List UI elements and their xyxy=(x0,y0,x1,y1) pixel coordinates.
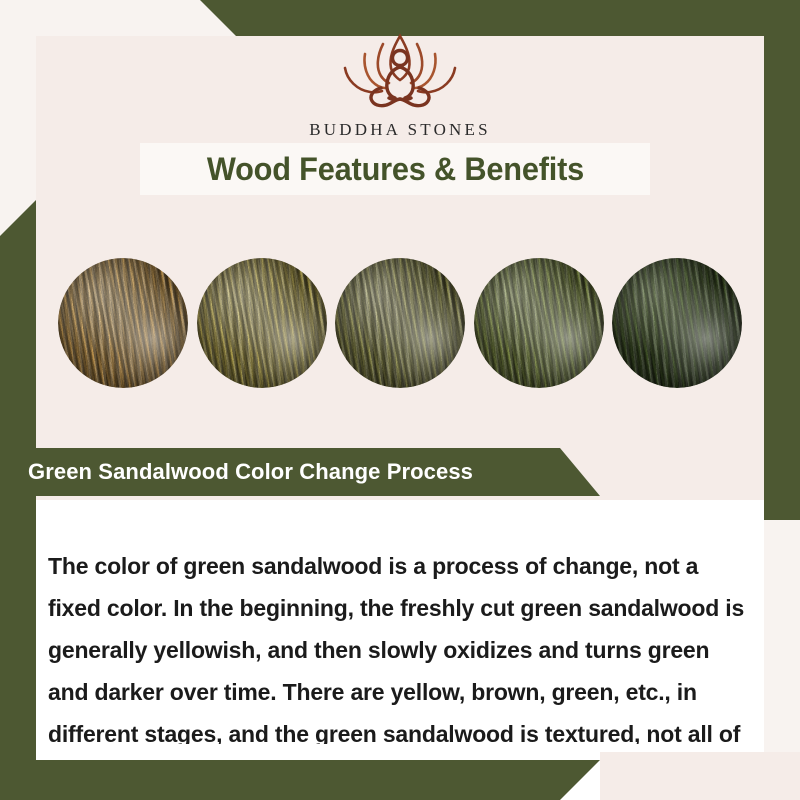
bead-shading xyxy=(612,258,742,388)
bead-shading xyxy=(335,258,465,388)
bead-stage-1 xyxy=(58,258,188,388)
bead-stage-2 xyxy=(197,258,327,388)
frame-left-bar xyxy=(0,200,36,800)
section-header-title: Green Sandalwood Color Change Process xyxy=(28,459,473,485)
brand-name: BUDDHA STONES xyxy=(0,120,800,140)
bead-shading xyxy=(197,258,327,388)
section-header-bar: Green Sandalwood Color Change Process xyxy=(0,448,600,496)
infographic-card: BUDDHA STONES Wood Features & Benefits G… xyxy=(0,0,800,800)
body-panel: The color of green sandalwood is a proce… xyxy=(36,500,764,760)
frame-bottom-bar xyxy=(0,760,640,800)
bead-shading xyxy=(474,258,604,388)
bead-shading xyxy=(58,258,188,388)
page-title: Wood Features & Benefits xyxy=(206,151,583,188)
bead-stage-5 xyxy=(612,258,742,388)
brand-logo-block: BUDDHA STONES xyxy=(0,28,800,140)
bead-stage-3 xyxy=(335,258,465,388)
bead-stage-4 xyxy=(474,258,604,388)
title-banner: Wood Features & Benefits xyxy=(140,143,650,195)
lotus-meditation-icon xyxy=(325,28,475,116)
bottom-right-corner xyxy=(600,752,800,800)
bead-gallery xyxy=(36,248,764,398)
